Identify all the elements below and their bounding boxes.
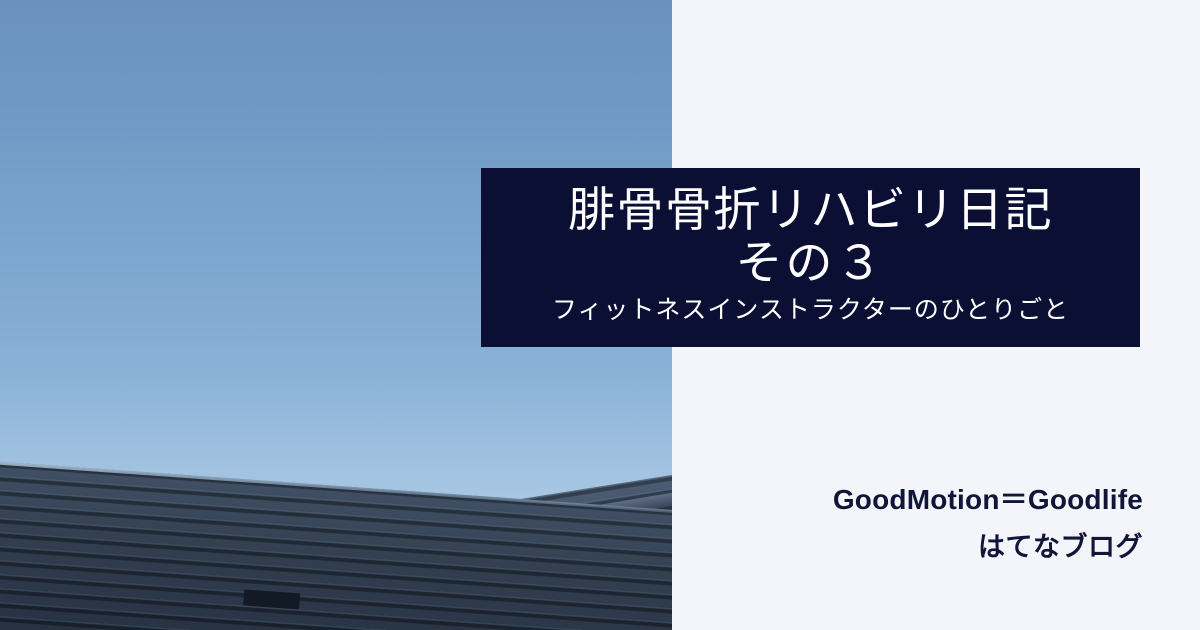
roof-edge-highlight (0, 460, 672, 519)
article-title-line-1: 腓骨骨折リハビリ日記 (568, 185, 1053, 238)
blog-name: GoodMotion＝Goodlife (833, 482, 1143, 518)
main-roof-shingles (0, 460, 672, 630)
article-title-line-2: その３ (736, 238, 886, 291)
article-subtitle: フィットネスインストラクターのひとりごと (552, 296, 1069, 326)
roof-vent (243, 589, 300, 609)
blog-service-name: はてなブログ (833, 530, 1143, 565)
brand-block: GoodMotion＝Goodlife はてなブログ (833, 482, 1143, 564)
title-plate: 腓骨骨折リハビリ日記 その３ フィットネスインストラクターのひとりごと (481, 168, 1140, 347)
og-image-card: 腓骨骨折リハビリ日記 その３ フィットネスインストラクターのひとりごと Good… (0, 0, 1200, 630)
